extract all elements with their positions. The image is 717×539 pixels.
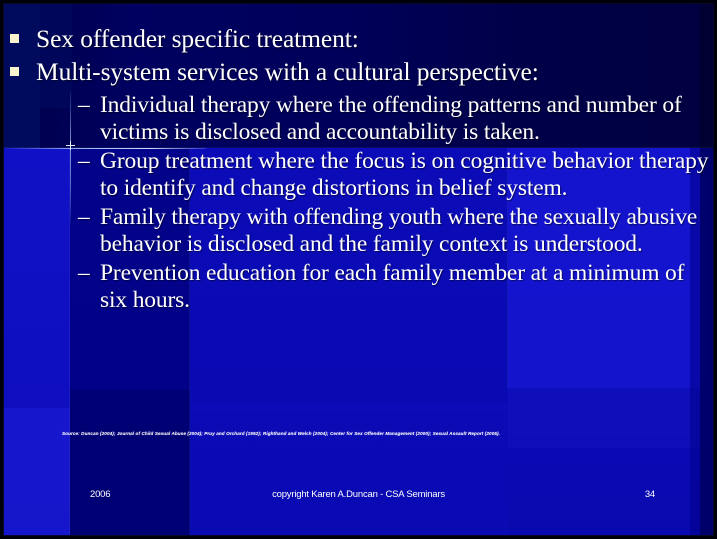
dash-bullet-icon: –: [78, 260, 96, 287]
sub-bullet-text: Family therapy with offending youth wher…: [100, 204, 717, 257]
slide-footer: 2006 copyright Karen A.Duncan - CSA Semi…: [0, 488, 717, 506]
slide-number: 34: [645, 488, 655, 502]
bullet-list-level2: – Individual therapy where the offending…: [36, 92, 717, 313]
bullet-text: Sex offender specific treatment:: [36, 24, 359, 53]
sub-bullet-item-4: – Prevention education for each family m…: [36, 260, 717, 313]
source-citation: Source: Duncan (2004); Journal of Child …: [62, 430, 672, 437]
slide-body: Sex offender specific treatment: Multi-s…: [0, 0, 717, 313]
dash-bullet-icon: –: [78, 148, 96, 175]
sub-bullet-text: Prevention education for each family mem…: [100, 260, 717, 313]
square-bullet-icon: [10, 34, 19, 43]
bullet-text: Multi-system services with a cultural pe…: [36, 57, 539, 86]
bullet-item-2: Multi-system services with a cultural pe…: [0, 56, 717, 313]
bullet-item-1: Sex offender specific treatment:: [0, 23, 717, 54]
bullet-list-level1: Sex offender specific treatment: Multi-s…: [0, 23, 717, 313]
sub-bullet-text: Group treatment where the focus is on co…: [100, 148, 717, 201]
dash-bullet-icon: –: [78, 204, 96, 231]
sub-bullet-item-2: – Group treatment where the focus is on …: [36, 148, 717, 201]
sub-bullet-item-1: – Individual therapy where the offending…: [36, 92, 717, 145]
footer-copyright: copyright Karen A.Duncan - CSA Seminars: [0, 488, 717, 502]
sub-bullet-text: Individual therapy where the offending p…: [100, 92, 717, 145]
square-bullet-icon: [10, 67, 19, 76]
dash-bullet-icon: –: [78, 92, 96, 119]
presentation-slide: Sex offender specific treatment: Multi-s…: [0, 0, 717, 539]
sub-bullet-item-3: – Family therapy with offending youth wh…: [36, 204, 717, 257]
